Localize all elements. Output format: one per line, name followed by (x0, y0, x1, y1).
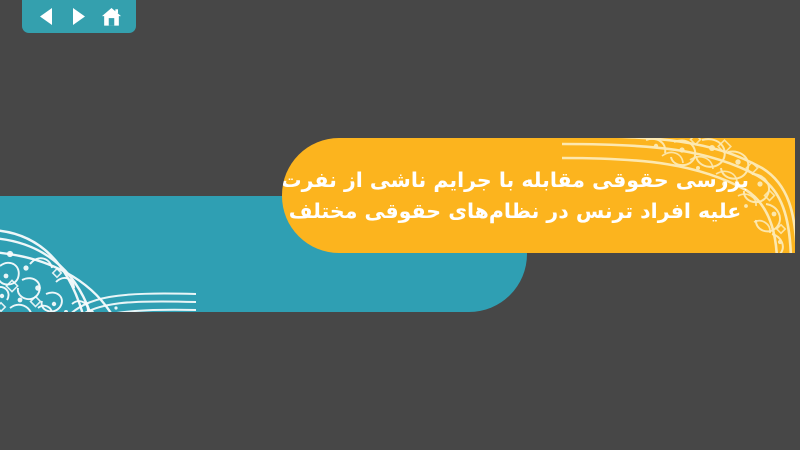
title-panel: بررسی حقوقی مقابله با جرایم ناشی از نفرت… (282, 138, 795, 253)
previous-slide-button[interactable] (33, 4, 59, 30)
slide-navigation-bar (22, 0, 136, 33)
arabesque-ornament-icon (0, 208, 196, 312)
triangle-left-icon (38, 7, 55, 26)
next-slide-button[interactable] (66, 4, 92, 30)
title-line-2: علیه افراد ترنس در نظام‌های حقوقی مختلف (289, 196, 741, 227)
triangle-right-icon (70, 7, 87, 26)
home-button[interactable] (99, 4, 125, 30)
home-icon (100, 6, 123, 28)
slide-canvas: بررسی حقوقی مقابله با جرایم ناشی از نفرت… (0, 0, 800, 450)
title-line-1: بررسی حقوقی مقابله با جرایم ناشی از نفرت (282, 165, 749, 196)
slide-title: بررسی حقوقی مقابله با جرایم ناشی از نفرت… (305, 138, 725, 253)
